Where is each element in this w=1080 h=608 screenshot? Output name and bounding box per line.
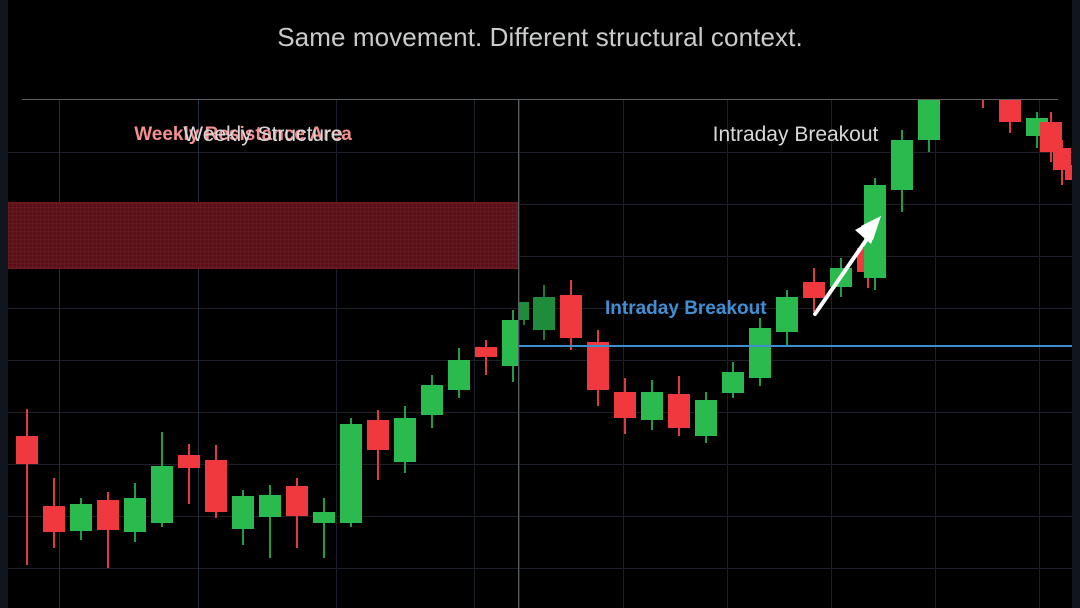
- candlestick: [70, 498, 92, 540]
- candle-body: [394, 418, 416, 462]
- candle-wick: [323, 498, 325, 558]
- candlestick: [533, 285, 555, 340]
- candle-body: [340, 424, 362, 523]
- candle-body: [43, 506, 65, 532]
- candlestick: [421, 375, 443, 428]
- candlestick: [587, 330, 609, 406]
- candle-body: [259, 495, 281, 517]
- up-trend-arrow: [809, 210, 889, 320]
- candle-body: [502, 320, 518, 366]
- screenshot-frame: Same movement. Different structural cont…: [0, 0, 1080, 608]
- candlestick: [475, 340, 497, 375]
- candle-wick: [26, 409, 28, 565]
- candle-body: [533, 297, 555, 330]
- candle-body: [151, 466, 173, 523]
- candle-body: [891, 140, 913, 190]
- candlestick: [340, 418, 362, 527]
- candle-body: [1065, 165, 1072, 180]
- candlestick: [43, 478, 65, 548]
- candlestick: [972, 100, 994, 108]
- candle-body: [286, 486, 308, 516]
- candle-body: [999, 100, 1021, 122]
- candle-body: [614, 392, 636, 418]
- candle-body: [232, 496, 254, 529]
- panel-intraday-breakout: Intraday Breakout Intraday Breakout: [519, 100, 1072, 608]
- intraday-breakout-label: Intraday Breakout: [605, 298, 767, 320]
- candle-body: [70, 504, 92, 531]
- candle-body: [97, 500, 119, 530]
- candle-body: [313, 512, 335, 523]
- panel-title-intraday: Intraday Breakout: [519, 123, 1072, 147]
- candlestick: [776, 290, 798, 345]
- candle-body: [722, 372, 744, 393]
- candle-wick: [485, 340, 487, 375]
- candle-body: [668, 394, 690, 428]
- candlestick-series-weekly: [8, 100, 518, 608]
- candle-body: [205, 460, 227, 512]
- candle-body: [367, 420, 389, 450]
- candle-body: [178, 455, 200, 468]
- candlestick: [614, 378, 636, 434]
- candlestick: [367, 410, 389, 480]
- candle-body: [124, 498, 146, 532]
- candlestick: [259, 485, 281, 558]
- candlestick: [502, 310, 518, 382]
- candlestick: [560, 280, 582, 350]
- page-title: Same movement. Different structural cont…: [8, 22, 1072, 53]
- chart-canvas: Same movement. Different structural cont…: [8, 0, 1072, 608]
- candle-wick: [982, 100, 984, 108]
- candlestick: [448, 348, 470, 398]
- candle-body: [749, 328, 771, 378]
- candlestick: [1065, 158, 1072, 190]
- candlestick: [16, 409, 38, 565]
- candlestick: [519, 302, 529, 325]
- candle-body: [695, 400, 717, 436]
- candlestick: [97, 492, 119, 568]
- candlestick: [695, 392, 717, 443]
- candle-wick: [188, 444, 190, 504]
- candle-body: [587, 342, 609, 390]
- candlestick: [286, 478, 308, 548]
- candle-body: [519, 302, 529, 320]
- candlestick: [749, 318, 771, 386]
- candle-body: [421, 385, 443, 415]
- candlestick: [722, 362, 744, 398]
- candlestick: [394, 406, 416, 473]
- candle-body: [776, 297, 798, 332]
- candlestick-series-intraday: [519, 100, 1072, 608]
- candle-body: [560, 295, 582, 338]
- candlestick: [313, 498, 335, 558]
- candlestick: [641, 380, 663, 430]
- candlestick: [151, 432, 173, 527]
- candlestick: [668, 376, 690, 436]
- candlestick: [124, 483, 146, 542]
- intraday-breakout-line: [519, 345, 1072, 347]
- candle-body: [448, 360, 470, 390]
- panel-weekly-structure: Weekly Resistance Area Weekly Structure: [8, 100, 518, 608]
- panel-title-weekly: Weekly Structure: [8, 123, 518, 147]
- candle-body: [475, 347, 497, 357]
- candle-body: [16, 436, 38, 464]
- candlestick: [232, 490, 254, 545]
- candlestick: [178, 444, 200, 504]
- candle-body: [641, 392, 663, 420]
- candlestick: [205, 445, 227, 518]
